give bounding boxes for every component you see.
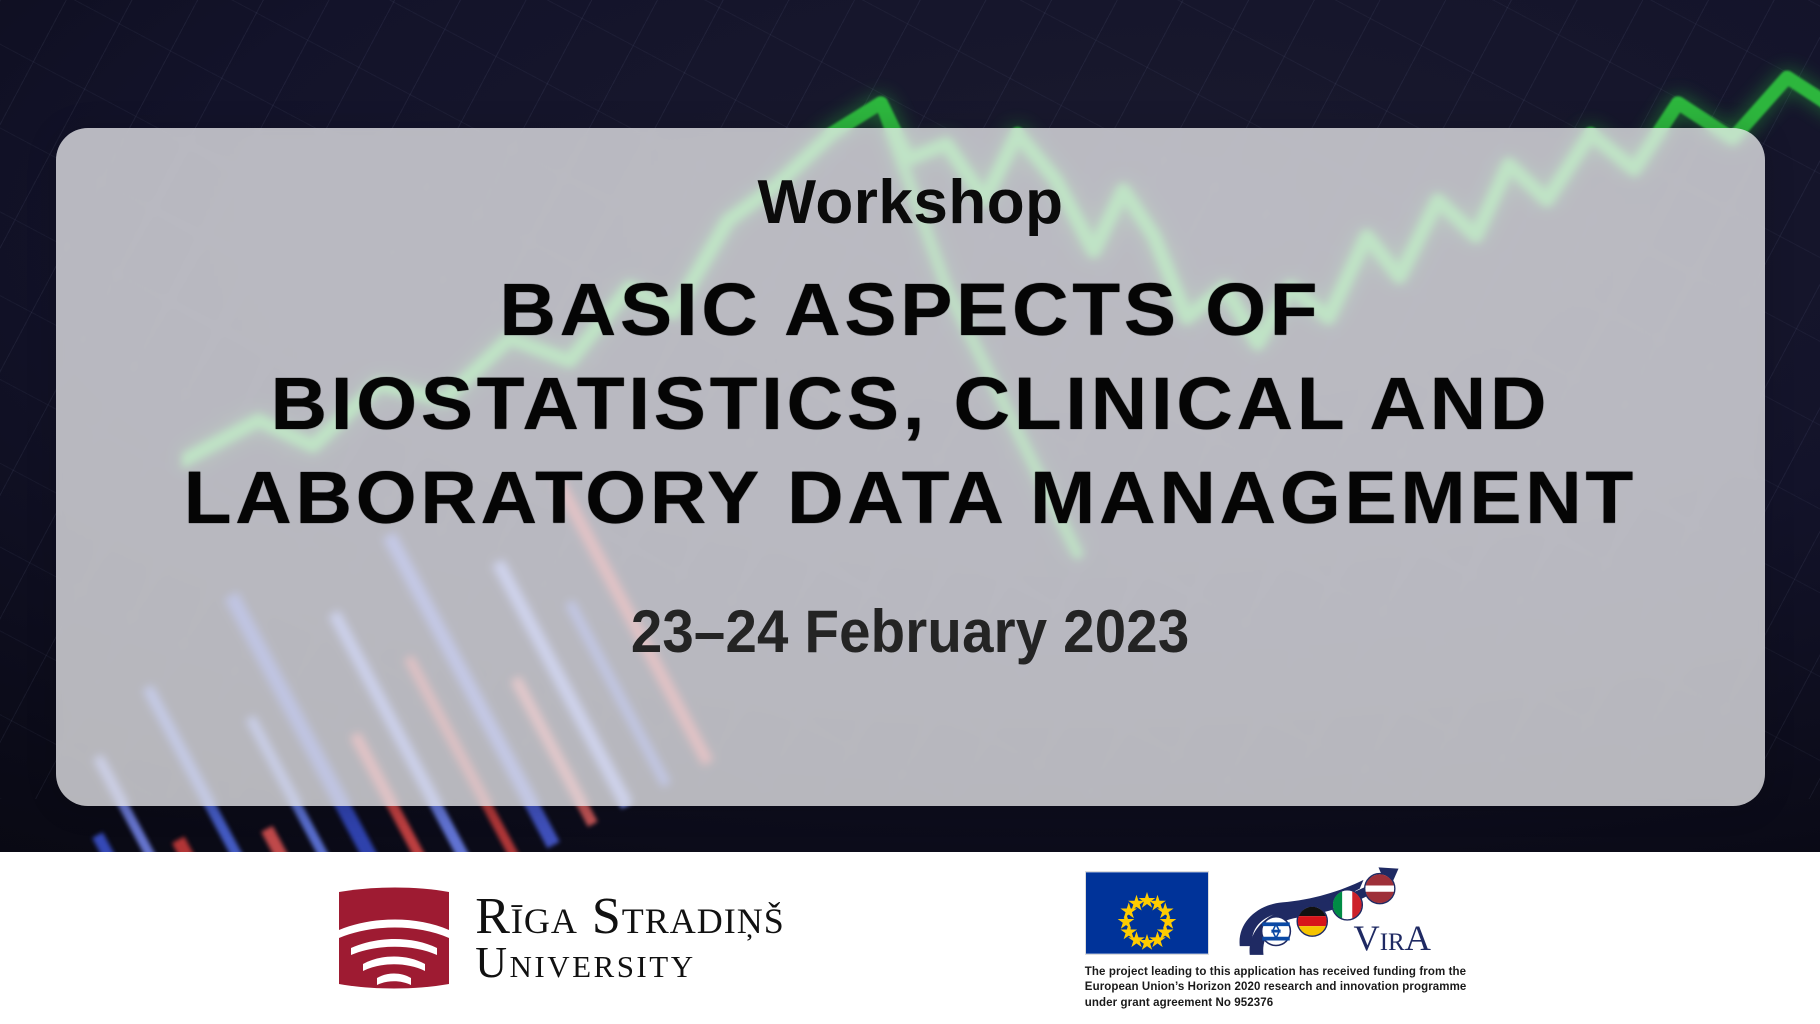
rsu-line-2: University [475, 942, 785, 984]
rsu-wordmark: Rīga Stradiņš University [475, 892, 785, 984]
vira-arrow-icon: VIRA [1231, 865, 1431, 961]
rsu-shield-icon [335, 886, 453, 990]
kicker-label: Workshop [758, 170, 1064, 235]
rsu-logo: Rīga Stradiņš University [335, 886, 785, 990]
title-line-3: LABORATORY DATA MANAGEMENT [41, 451, 1780, 545]
workshop-poster: Workshop BASIC ASPECTS OF BIOSTATISTICS,… [0, 0, 1820, 1024]
eu-vira-logo-group: VIRA The project leading to this applica… [1085, 865, 1485, 1012]
funding-disclaimer: The project leading to this application … [1085, 965, 1485, 1012]
eu-vira-row: VIRA [1085, 865, 1431, 961]
italy-flag-badge [1332, 890, 1362, 920]
latvia-flag-badge [1365, 873, 1395, 903]
event-date: 23–24 February 2023 [631, 597, 1190, 666]
eu-flag-icon [1085, 871, 1209, 955]
page-title: BASIC ASPECTS OF BIOSTATISTICS, CLINICAL… [41, 263, 1780, 545]
footer-logo-band: Rīga Stradiņš University [0, 852, 1820, 1024]
title-line-1: BASIC ASPECTS OF [41, 263, 1780, 357]
israel-flag-badge [1261, 916, 1290, 945]
content-card: Workshop BASIC ASPECTS OF BIOSTATISTICS,… [56, 128, 1765, 806]
title-line-2: BIOSTATISTICS, CLINICAL AND [41, 357, 1780, 451]
vira-wordmark: VIRA [1353, 918, 1430, 958]
germany-flag-badge [1297, 906, 1327, 936]
rsu-line-1: Rīga Stradiņš [475, 892, 785, 942]
